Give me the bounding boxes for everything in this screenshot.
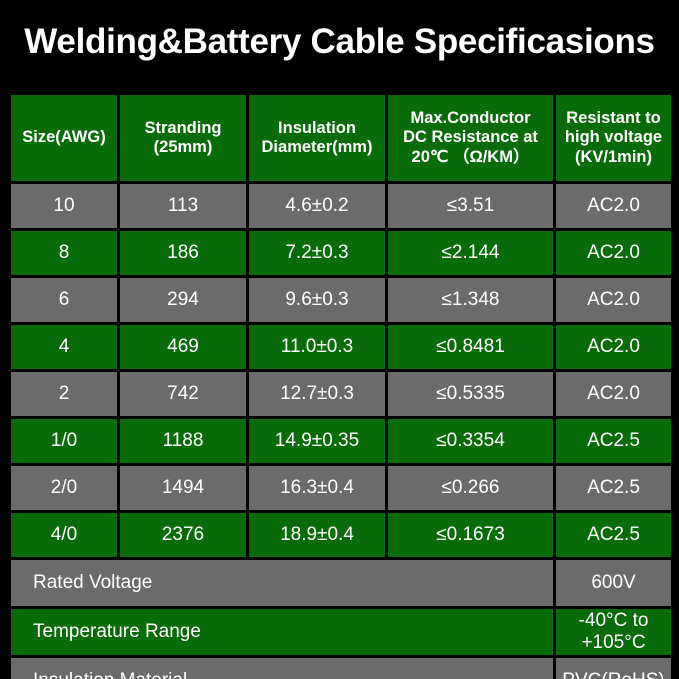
footer-value: PVC(RoHS) xyxy=(555,657,673,679)
table-cell: 16.3±0.4 xyxy=(248,465,387,512)
column-header-line: Insulation xyxy=(278,119,356,137)
table-footer: Rated Voltage600VTemperature Range-40°C … xyxy=(10,559,673,679)
specifications-table-wrapper: Size(AWG)Stranding(25mm)InsulationDiamet… xyxy=(8,92,671,679)
table-cell: ≤0.5335 xyxy=(387,371,555,418)
table-cell: 18.9±0.4 xyxy=(248,512,387,559)
table-cell: AC2.5 xyxy=(555,512,673,559)
table-row: 62949.6±0.3≤1.348AC2.0 xyxy=(10,277,673,324)
footer-label: Temperature Range xyxy=(10,608,555,657)
table-cell: ≤1.348 xyxy=(387,277,555,324)
table-cell: 113 xyxy=(119,183,248,230)
table-cell: ≤2.144 xyxy=(387,230,555,277)
table-cell: 1/0 xyxy=(10,418,119,465)
footer-value: 600V xyxy=(555,559,673,608)
column-header-line: Stranding xyxy=(145,119,222,137)
table-cell: 12.7±0.3 xyxy=(248,371,387,418)
table-cell: 11.0±0.3 xyxy=(248,324,387,371)
table-cell: 2 xyxy=(10,371,119,418)
table-body: 101134.6±0.2≤3.51AC2.081867.2±0.3≤2.144A… xyxy=(10,183,673,559)
table-cell: ≤0.1673 xyxy=(387,512,555,559)
table-cell: 4 xyxy=(10,324,119,371)
table-footer-row: Insulation MaterialPVC(RoHS) xyxy=(10,657,673,679)
table-row: 2/0149416.3±0.4≤0.266AC2.5 xyxy=(10,465,673,512)
table-cell: 6 xyxy=(10,277,119,324)
table-cell: AC2.5 xyxy=(555,418,673,465)
footer-label: Insulation Material xyxy=(10,657,555,679)
table-cell: 1188 xyxy=(119,418,248,465)
table-cell: 2/0 xyxy=(10,465,119,512)
table-cell: AC2.0 xyxy=(555,324,673,371)
table-cell: AC2.0 xyxy=(555,183,673,230)
table-footer-row: Rated Voltage600V xyxy=(10,559,673,608)
table-cell: 4/0 xyxy=(10,512,119,559)
table-cell: 186 xyxy=(119,230,248,277)
table-row: 101134.6±0.2≤3.51AC2.0 xyxy=(10,183,673,230)
table-cell: 469 xyxy=(119,324,248,371)
column-header-line: high voltage xyxy=(565,128,662,146)
specifications-table: Size(AWG)Stranding(25mm)InsulationDiamet… xyxy=(8,92,674,679)
table-cell: 9.6±0.3 xyxy=(248,277,387,324)
table-row: 81867.2±0.3≤2.144AC2.0 xyxy=(10,230,673,277)
column-header-line: 20℃ （Ω/KM） xyxy=(412,148,530,166)
table-header: Size(AWG)Stranding(25mm)InsulationDiamet… xyxy=(10,94,673,183)
column-header-line: DC Resistance at xyxy=(403,128,538,146)
table-cell: AC2.5 xyxy=(555,465,673,512)
table-row: 4/0237618.9±0.4≤0.1673AC2.5 xyxy=(10,512,673,559)
table-cell: ≤3.51 xyxy=(387,183,555,230)
table-cell: 14.9±0.35 xyxy=(248,418,387,465)
table-row: 446911.0±0.3≤0.8481AC2.0 xyxy=(10,324,673,371)
column-header-5: Resistant tohigh voltage(KV/1min) xyxy=(555,94,673,183)
footer-label: Rated Voltage xyxy=(10,559,555,608)
table-cell: 742 xyxy=(119,371,248,418)
table-cell: 7.2±0.3 xyxy=(248,230,387,277)
column-header-line: Max.Conductor xyxy=(410,109,530,127)
table-cell: 8 xyxy=(10,230,119,277)
table-cell: 4.6±0.2 xyxy=(248,183,387,230)
table-cell: 2376 xyxy=(119,512,248,559)
column-header-line: Size(AWG) xyxy=(22,128,105,146)
table-cell: AC2.0 xyxy=(555,277,673,324)
table-cell: 1494 xyxy=(119,465,248,512)
column-header-3: InsulationDiameter(mm) xyxy=(248,94,387,183)
column-header-line: Resistant to xyxy=(566,109,660,127)
spec-sheet-page: Welding&Battery Cable Specificasions Siz… xyxy=(0,0,679,679)
table-cell: ≤0.3354 xyxy=(387,418,555,465)
table-cell: 294 xyxy=(119,277,248,324)
column-header-line: (KV/1min) xyxy=(575,148,652,166)
table-row: 1/0118814.9±0.35≤0.3354AC2.5 xyxy=(10,418,673,465)
column-header-line: Diameter(mm) xyxy=(262,138,373,156)
table-cell: 10 xyxy=(10,183,119,230)
page-title: Welding&Battery Cable Specificasions xyxy=(0,0,679,92)
column-header-2: Stranding(25mm) xyxy=(119,94,248,183)
column-header-line: (25mm) xyxy=(154,138,213,156)
table-header-row: Size(AWG)Stranding(25mm)InsulationDiamet… xyxy=(10,94,673,183)
table-cell: ≤0.266 xyxy=(387,465,555,512)
column-header-1: Size(AWG) xyxy=(10,94,119,183)
footer-value: -40°C to +105°C xyxy=(555,608,673,657)
column-header-4: Max.ConductorDC Resistance at20℃ （Ω/KM） xyxy=(387,94,555,183)
table-cell: AC2.0 xyxy=(555,371,673,418)
table-cell: AC2.0 xyxy=(555,230,673,277)
table-row: 274212.7±0.3≤0.5335AC2.0 xyxy=(10,371,673,418)
table-cell: ≤0.8481 xyxy=(387,324,555,371)
table-footer-row: Temperature Range-40°C to +105°C xyxy=(10,608,673,657)
